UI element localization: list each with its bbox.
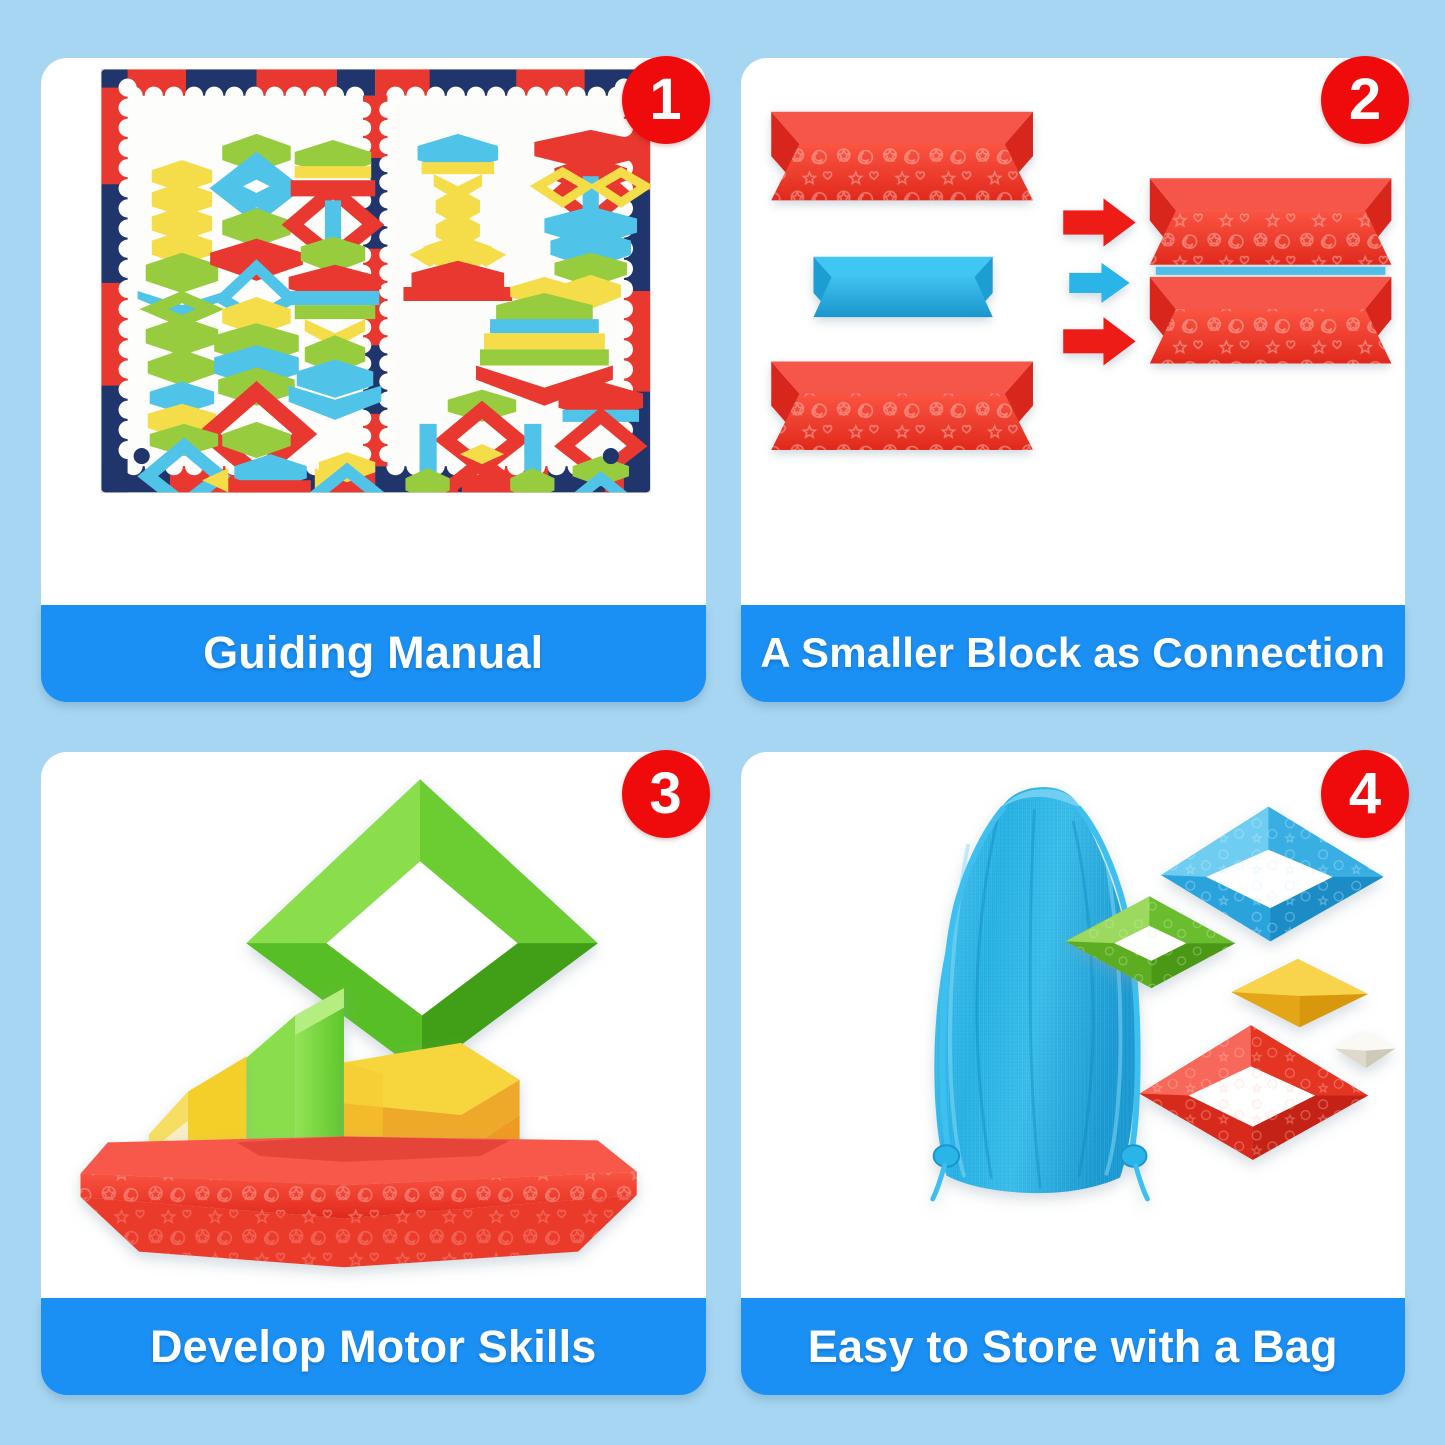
card-2-caption-text: A Smaller Block as Connection: [760, 629, 1385, 677]
block-tower-svg: [41, 752, 706, 1299]
blue-connector-sliver: [1155, 267, 1385, 275]
motor-skills-tower-illustration: [41, 752, 706, 1299]
block-pyramid-white: [1334, 1031, 1395, 1068]
card-3-caption-text: Develop Motor Skills: [150, 1321, 597, 1373]
step-badge-4: 4: [1321, 750, 1409, 838]
step-badge-3: 3: [622, 750, 710, 838]
guiding-manual-illustration: [41, 58, 706, 605]
card-1-caption-bar: Guiding Manual: [41, 605, 706, 702]
feature-card-1: 1: [41, 58, 706, 702]
card-3-photo: [41, 752, 706, 1299]
arrow-red-top: [1063, 198, 1135, 246]
card-1-photo: [41, 58, 706, 605]
block-red-bottom: [771, 361, 1033, 450]
drawstring-bag: [932, 787, 1147, 1199]
card-2-caption-bar: A Smaller Block as Connection: [741, 605, 1406, 702]
card-4-caption-bar: Easy to Store with a Bag: [741, 1298, 1406, 1395]
card-1-caption-text: Guiding Manual: [203, 627, 543, 679]
blocks-connection-svg: [741, 58, 1406, 605]
block-pyramid-yellow: [1231, 958, 1368, 1026]
infographic-grid: 1: [0, 0, 1445, 1445]
manual-svg: [41, 58, 706, 605]
step-badge-1: 1: [622, 56, 710, 144]
card-4-caption-text: Easy to Store with a Bag: [808, 1321, 1338, 1373]
card-4-photo: [741, 752, 1406, 1299]
scallop-left: [101, 69, 136, 492]
assembled-stack: [1149, 178, 1391, 363]
card-3-caption-bar: Develop Motor Skills: [41, 1298, 706, 1395]
feature-card-3: 3: [41, 752, 706, 1396]
arrow-blue-middle: [1069, 263, 1129, 303]
red-base-block: [80, 1136, 636, 1267]
storage-bag-illustration: [741, 752, 1406, 1299]
bag-and-blocks-svg: [741, 752, 1406, 1299]
smaller-block-connection-illustration: [741, 58, 1406, 605]
block-blue-middle: [813, 257, 992, 317]
feature-card-4: 4: [741, 752, 1406, 1396]
block-red-top: [771, 112, 1033, 201]
feature-card-2: 2: [741, 58, 1406, 702]
arrow-red-bottom: [1063, 317, 1135, 365]
block-frame-red: [1139, 1025, 1367, 1160]
step-badge-2: 2: [1321, 56, 1409, 144]
card-2-photo: [741, 58, 1406, 605]
